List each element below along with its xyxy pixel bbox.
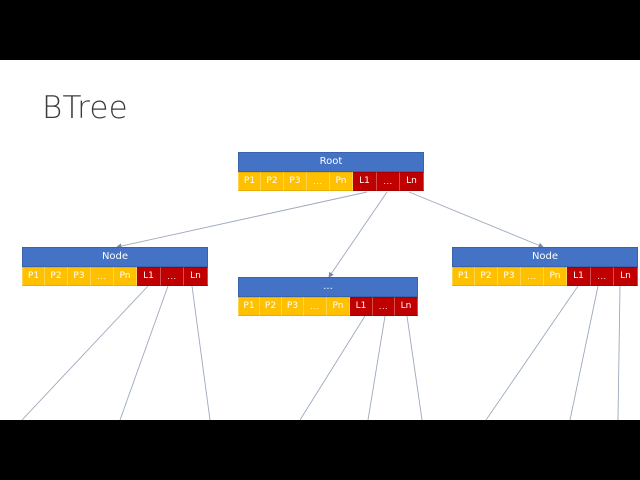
node-cell-row: P1 P2 P3 ... Pn L1 ... Ln	[22, 267, 208, 286]
node-cell-row: P1 P2 P3 ... Pn L1 ... Ln	[238, 172, 424, 191]
node-header-label: ...	[238, 277, 418, 297]
leaf-cell-ellipsis[interactable]: ...	[591, 267, 614, 286]
node-header-label: Node	[22, 247, 208, 267]
leaf-cell-l1[interactable]: L1	[350, 297, 373, 316]
letterbox-bottom	[0, 420, 640, 480]
node-header-label: Node	[452, 247, 638, 267]
leaf-cell-ellipsis[interactable]: ...	[161, 267, 184, 286]
slide-canvas: BTree	[0, 60, 640, 420]
pointer-cell-p1[interactable]: P1	[452, 267, 475, 286]
pointer-cell-pn[interactable]: Pn	[114, 267, 137, 286]
pointer-cell-pn[interactable]: Pn	[544, 267, 567, 286]
pointer-cell-p2[interactable]: P2	[475, 267, 498, 286]
pointer-cell-p1[interactable]: P1	[22, 267, 45, 286]
leaf-cell-ln[interactable]: Ln	[184, 267, 208, 286]
leaf-cell-ellipsis[interactable]: ...	[373, 297, 395, 316]
leaf-cell-ellipsis[interactable]: ...	[377, 172, 400, 191]
pointer-cell-p2[interactable]: P2	[260, 297, 282, 316]
pointer-cell-ellipsis[interactable]: ...	[304, 297, 327, 316]
pointer-cell-p3[interactable]: P3	[282, 297, 304, 316]
leaf-cell-ln[interactable]: Ln	[400, 172, 424, 191]
pointer-cell-p3[interactable]: P3	[498, 267, 521, 286]
slide-frame: BTree	[0, 0, 640, 480]
pointer-cell-ellipsis[interactable]: ...	[521, 267, 544, 286]
pointer-cell-pn[interactable]: Pn	[327, 297, 350, 316]
pointer-cell-ellipsis[interactable]: ...	[91, 267, 114, 286]
node-cell-row: P1 P2 P3 ... Pn L1 ... Ln	[452, 267, 638, 286]
pointer-cell-pn[interactable]: Pn	[330, 172, 353, 191]
btree-node-left[interactable]: Node P1 P2 P3 ... Pn L1 ... Ln	[22, 247, 208, 286]
leaf-cell-l1[interactable]: L1	[567, 267, 591, 286]
leaf-cell-ln[interactable]: Ln	[614, 267, 638, 286]
pointer-cell-p2[interactable]: P2	[45, 267, 68, 286]
pointer-cell-p3[interactable]: P3	[68, 267, 91, 286]
pointer-cell-p1[interactable]: P1	[238, 172, 261, 191]
leaf-cell-l1[interactable]: L1	[137, 267, 161, 286]
pointer-cell-p3[interactable]: P3	[284, 172, 307, 191]
leaf-cell-l1[interactable]: L1	[353, 172, 377, 191]
btree-node-root[interactable]: Root P1 P2 P3 ... Pn L1 ... Ln	[238, 152, 424, 191]
btree-node-middle[interactable]: ... P1 P2 P3 ... Pn L1 ... Ln	[238, 277, 418, 316]
leaf-cell-ln[interactable]: Ln	[395, 297, 418, 316]
pointer-cell-ellipsis[interactable]: ...	[307, 172, 330, 191]
connector-lines	[0, 60, 640, 420]
node-cell-row: P1 P2 P3 ... Pn L1 ... Ln	[238, 297, 418, 316]
node-header-label: Root	[238, 152, 424, 172]
pointer-cell-p2[interactable]: P2	[261, 172, 284, 191]
pointer-cell-p1[interactable]: P1	[238, 297, 260, 316]
btree-node-right[interactable]: Node P1 P2 P3 ... Pn L1 ... Ln	[452, 247, 638, 286]
letterbox-top	[0, 0, 640, 60]
